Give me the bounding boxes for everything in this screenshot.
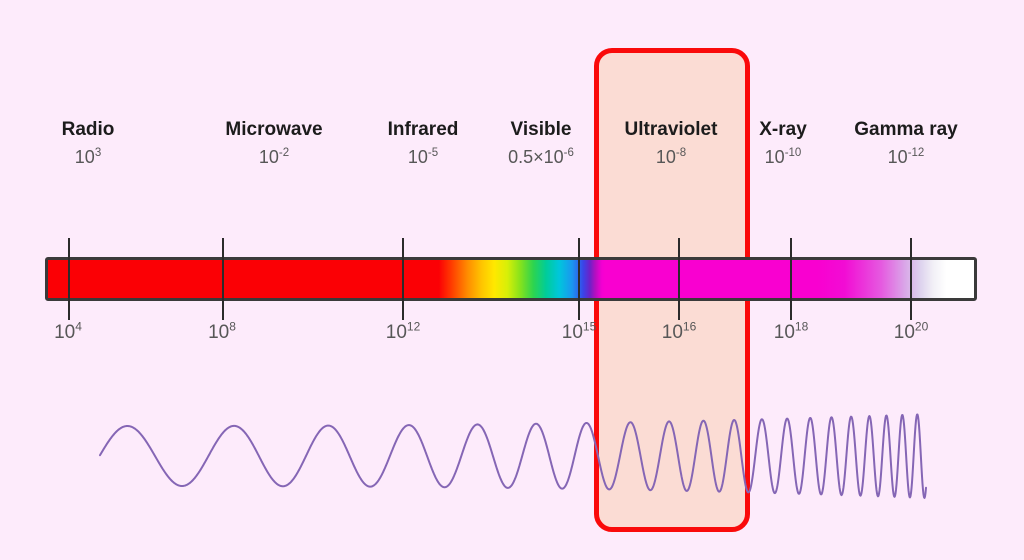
band-wavelength-mantissa: 10 [544, 147, 564, 167]
tick-mantissa: 10 [208, 322, 229, 343]
band-name: Gamma ray [826, 118, 986, 142]
band-name: Microwave [186, 118, 362, 142]
band-wavelength-exponent: -10 [785, 147, 802, 159]
tick-exponent: 8 [229, 320, 236, 334]
tick-label-frequency: 108 [182, 322, 262, 344]
tick-mantissa: 10 [774, 322, 795, 343]
tick-mantissa: 10 [662, 322, 683, 343]
tick-mark [790, 238, 792, 320]
tick-label-frequency: 104 [28, 322, 108, 344]
band-wavelength: 0.5×10-6 [471, 144, 611, 170]
tick-mark [402, 238, 404, 320]
tick-label-frequency: 1020 [868, 322, 954, 344]
band-wavelength: 10-12 [826, 144, 986, 170]
tick-mantissa: 10 [54, 322, 75, 343]
band-wavelength-mantissa: 10 [408, 147, 428, 167]
tick-exponent: 12 [407, 320, 420, 334]
tick-label-frequency: 1012 [360, 322, 446, 344]
tick-label-frequency: 1015 [536, 322, 622, 344]
tick-mark [678, 238, 680, 320]
band-wavelength-exponent: -8 [676, 147, 686, 159]
tick-exponent: 18 [795, 320, 808, 334]
spectrum-figure: Radio 103 Microwave 10-2 Infrared 10-5 V… [0, 0, 1024, 560]
tick-mantissa: 10 [386, 322, 407, 343]
spectrum-color-bar [45, 257, 977, 301]
tick-mark [578, 238, 580, 320]
band-wavelength-exponent: -2 [279, 147, 289, 159]
tick-mantissa: 10 [562, 322, 583, 343]
band-wavelength-mantissa: 10 [888, 147, 908, 167]
tick-mark [222, 238, 224, 320]
tick-exponent: 16 [683, 320, 696, 334]
band-label-microwave: Microwave 10-2 [186, 118, 362, 170]
band-wavelength-mantissa: 10 [75, 147, 95, 167]
band-wavelength-exponent: -12 [908, 147, 925, 159]
band-label-visible: Visible 0.5×10-6 [471, 118, 611, 170]
band-wavelength: 10-10 [723, 144, 843, 170]
band-wavelength-exponent: -5 [428, 147, 438, 159]
tick-mantissa: 10 [894, 322, 915, 343]
tick-mark [910, 238, 912, 320]
band-wavelength-exponent: 3 [95, 147, 101, 159]
tick-exponent: 15 [583, 320, 596, 334]
band-wavelength-mantissa: 10 [259, 147, 279, 167]
band-wavelength-mantissa: 10 [656, 147, 676, 167]
tick-mark [68, 238, 70, 320]
band-label-radio: Radio 103 [0, 118, 176, 170]
band-name: Visible [471, 118, 611, 142]
band-wavelength-prefix: 0.5× [508, 147, 544, 167]
band-wavelength: 103 [0, 144, 176, 170]
band-wavelength-mantissa: 10 [765, 147, 785, 167]
band-label-xray: X-ray 10-10 [723, 118, 843, 170]
band-name: X-ray [723, 118, 843, 142]
band-name: Radio [0, 118, 176, 142]
tick-label-frequency: 1018 [748, 322, 834, 344]
band-label-gamma-ray: Gamma ray 10-12 [826, 118, 986, 170]
spectrum-gradient [48, 260, 974, 298]
tick-exponent: 20 [915, 320, 928, 334]
tick-label-frequency: 1016 [636, 322, 722, 344]
band-wavelength: 10-2 [186, 144, 362, 170]
tick-exponent: 4 [75, 320, 82, 334]
band-wavelength-exponent: -6 [564, 147, 574, 159]
